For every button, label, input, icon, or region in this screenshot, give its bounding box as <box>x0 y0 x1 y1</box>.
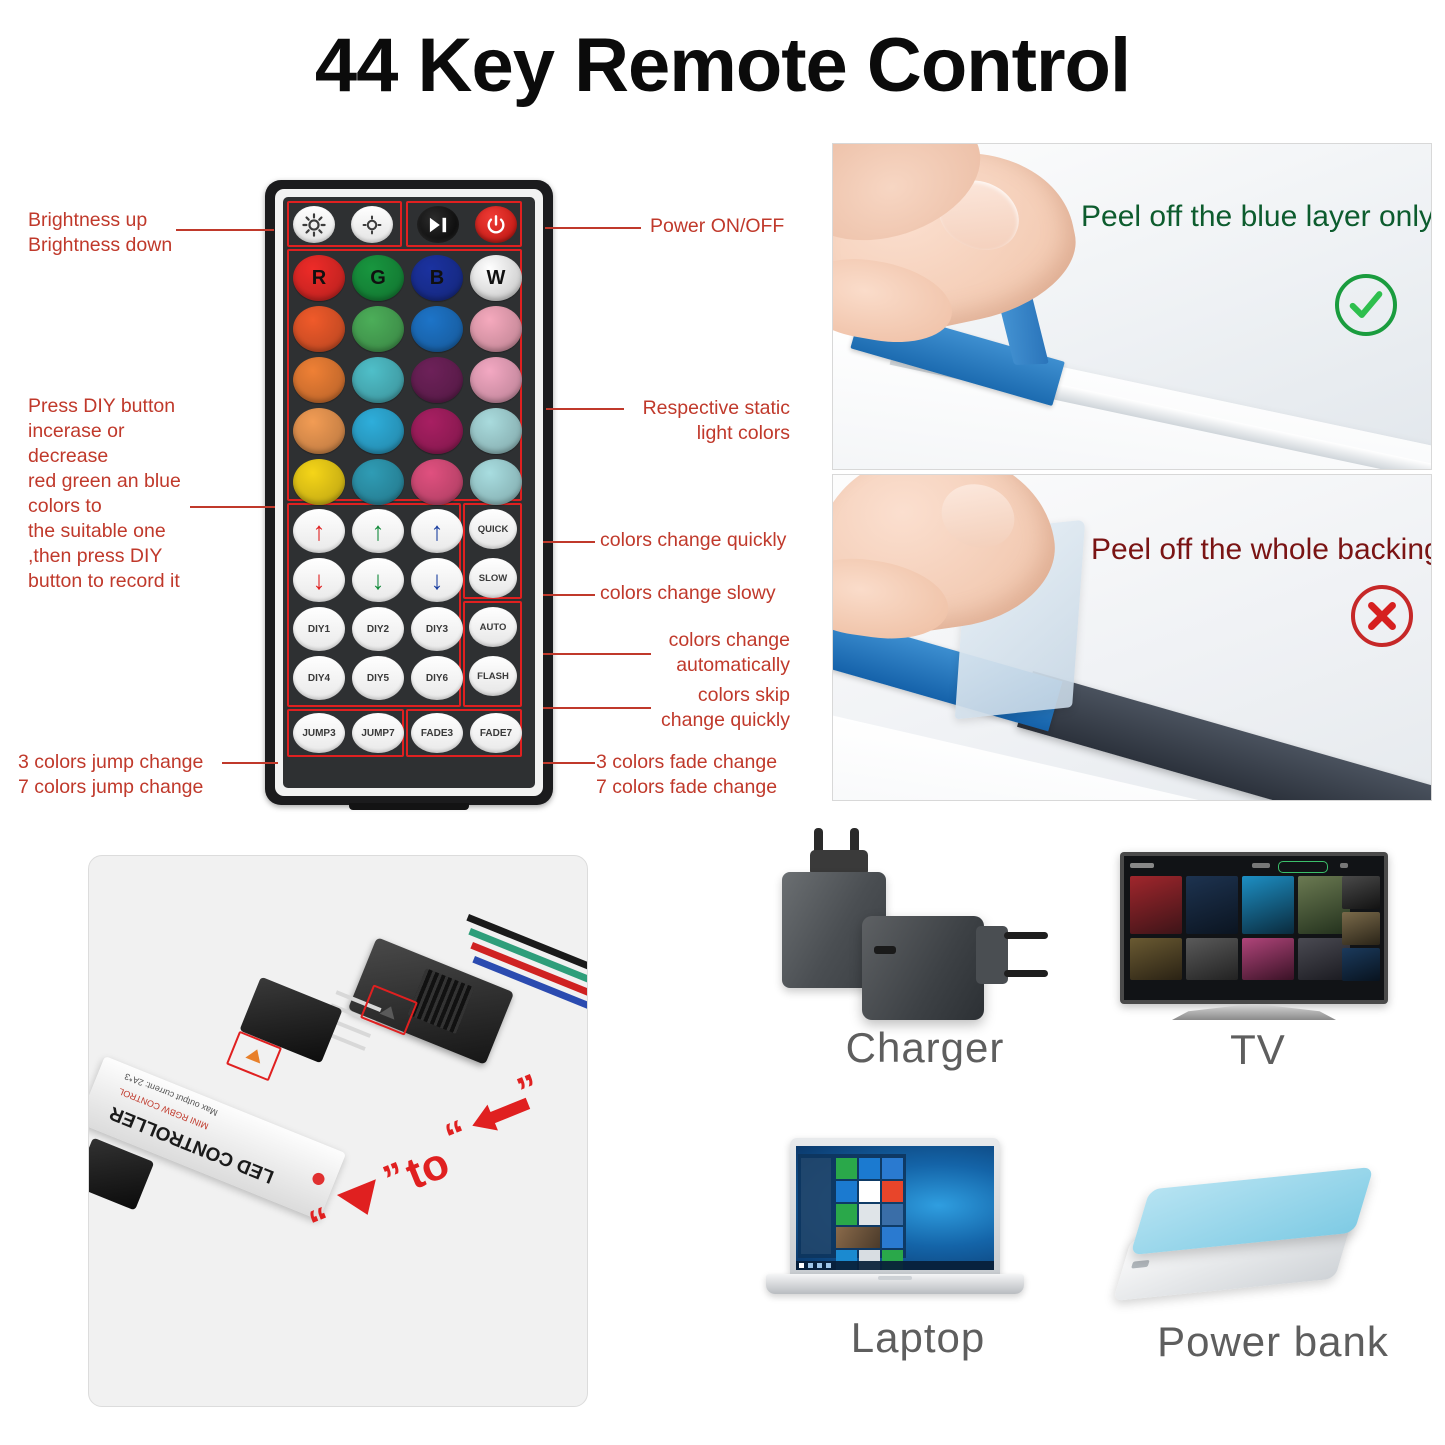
jump-fade-row: JUMP3JUMP7FADE3FADE7 <box>293 713 522 753</box>
controller-power-dot <box>311 1171 327 1187</box>
color-button-r5c4[interactable] <box>470 459 522 505</box>
tv-stand <box>1172 1004 1336 1020</box>
tv-sidebar-posters <box>1342 876 1380 981</box>
color-button-r1c2[interactable]: G <box>352 255 404 301</box>
color-button-r3c4[interactable] <box>470 357 522 403</box>
power-button[interactable] <box>475 206 517 243</box>
color-button-r2c1[interactable] <box>293 306 345 352</box>
mode-button-quick[interactable]: QUICK <box>469 509 517 549</box>
color-button-r5c1[interactable] <box>293 459 345 505</box>
color-button-grid: RGBW <box>293 255 522 505</box>
diy-button-diy5[interactable]: DIY5 <box>352 656 404 700</box>
peel-photo-blue-layer: Peel off the blue layer only <box>832 143 1432 470</box>
remote-face: RGBW ↑↑↑↓↓↓ DIY1DIY2DIY3DIY4DIY5DIY6 QUI… <box>283 197 535 788</box>
color-button-r2c2[interactable] <box>352 306 404 352</box>
tv-poster-row-2 <box>1130 938 1350 980</box>
overlay-quote-open-1: “ <box>303 1199 338 1248</box>
arrow-button-blue-up[interactable]: ↑ <box>411 509 463 553</box>
annotation-diy: Press DIY button incerase or decrease re… <box>28 394 243 594</box>
arrow-button-red-up[interactable]: ↑ <box>293 509 345 553</box>
color-button-r4c1[interactable] <box>293 408 345 454</box>
color-button-r3c3[interactable] <box>411 357 463 403</box>
charger-front-prongs <box>976 926 1046 990</box>
charger-front-body <box>862 916 984 1020</box>
annotation-fade: 3 colors fade change 7 colors fade chang… <box>596 750 846 800</box>
device-power-bank: Power bank <box>1108 1136 1438 1386</box>
brightness-up-button[interactable] <box>293 206 335 243</box>
arrow-down-icon: ↓ <box>313 567 326 593</box>
laptop-label: Laptop <box>758 1314 1078 1362</box>
infographic-root: 44 Key Remote Control <box>0 0 1445 1445</box>
controller-photo-panel: Max output current: 2A*3 MINI RGBW CONTR… <box>88 855 588 1407</box>
color-button-label-blue: B <box>430 267 444 290</box>
device-tv: TV <box>1098 844 1418 1084</box>
arrow-button-red-down[interactable]: ↓ <box>293 558 345 602</box>
color-button-r2c3[interactable] <box>411 306 463 352</box>
color-button-r4c2[interactable] <box>352 408 404 454</box>
leader-line-quick <box>543 541 595 543</box>
cross-icon <box>1364 598 1400 634</box>
color-button-r1c4[interactable]: W <box>470 255 522 301</box>
color-button-r5c2[interactable] <box>352 459 404 505</box>
windows-taskbar <box>796 1261 994 1270</box>
tv-label: TV <box>1098 1026 1418 1074</box>
pattern-button-jump7[interactable]: JUMP7 <box>352 713 404 753</box>
laptop-trackpad-notch <box>878 1276 912 1280</box>
arrow-up-icon: ↑ <box>372 518 385 544</box>
pattern-button-fade3[interactable]: FADE3 <box>411 713 463 753</box>
mode-button-slow[interactable]: SLOW <box>469 558 517 598</box>
page-title: 44 Key Remote Control <box>0 22 1445 109</box>
arrow-up-icon: ↑ <box>313 518 326 544</box>
leader-line-jump <box>222 762 278 764</box>
brightness-down-button[interactable] <box>351 206 393 243</box>
remote-control-body: RGBW ↑↑↑↓↓↓ DIY1DIY2DIY3DIY4DIY5DIY6 QUI… <box>265 180 553 805</box>
diy-button-diy2[interactable]: DIY2 <box>352 607 404 651</box>
device-laptop: Laptop <box>758 1126 1078 1376</box>
arrow-button-green-up[interactable]: ↑ <box>352 509 404 553</box>
device-charger: Charger <box>770 828 1080 1078</box>
diy-button-diy1[interactable]: DIY1 <box>293 607 345 651</box>
color-button-label-white: W <box>487 267 506 290</box>
power-icon <box>485 214 507 236</box>
diy-button-diy4[interactable]: DIY4 <box>293 656 345 700</box>
color-button-label-green: G <box>370 267 386 290</box>
arrow-down-icon: ↓ <box>372 567 385 593</box>
annotation-jump: 3 colors jump change 7 colors jump chang… <box>18 750 258 800</box>
charger-label: Charger <box>770 1024 1080 1072</box>
color-button-r5c3[interactable] <box>411 459 463 505</box>
tv-frame <box>1120 852 1388 1004</box>
tv-poster-row-1 <box>1130 876 1350 934</box>
mode-button-flash[interactable]: FLASH <box>469 656 517 696</box>
laptop-screen <box>796 1146 994 1270</box>
color-button-r3c2[interactable] <box>352 357 404 403</box>
overlay-triangle-icon <box>337 1179 387 1223</box>
controller-arrow-mark <box>245 1046 264 1063</box>
tv-topbar <box>1130 861 1378 871</box>
peel-caption-2: Peel off the whole backing <box>1091 533 1432 567</box>
annotation-slow: colors change slowy <box>600 581 860 606</box>
play-pause-icon <box>427 216 449 234</box>
annotation-static-colors: Respective static light colors <box>586 396 790 446</box>
color-button-r4c4[interactable] <box>470 408 522 454</box>
leader-line-diy <box>190 506 275 508</box>
pattern-button-jump3[interactable]: JUMP3 <box>293 713 345 753</box>
arrow-button-blue-down[interactable]: ↓ <box>411 558 463 602</box>
cross-badge <box>1351 585 1413 647</box>
sun-icon <box>301 212 327 238</box>
check-icon <box>1346 285 1386 325</box>
leader-line-auto <box>543 653 651 655</box>
arrow-down-icon: ↓ <box>431 567 444 593</box>
arrow-button-grid: ↑↑↑↓↓↓ <box>293 509 463 602</box>
diy-button-diy6[interactable]: DIY6 <box>411 656 463 700</box>
charger-usb-port <box>874 946 896 954</box>
leader-line-fade <box>543 762 595 764</box>
leader-line-brightness <box>176 229 274 231</box>
arrow-button-green-down[interactable]: ↓ <box>352 558 404 602</box>
color-button-r3c1[interactable] <box>293 357 345 403</box>
windows-start-menu <box>798 1154 906 1258</box>
leader-line-power <box>545 227 641 229</box>
mode-button-column: QUICKSLOWAUTOFLASH <box>469 509 517 696</box>
arrow-up-icon: ↑ <box>431 518 444 544</box>
leader-line-flash <box>543 707 651 709</box>
check-badge <box>1335 274 1397 336</box>
color-button-label-red: R <box>312 267 326 290</box>
annotation-brightness: Brightness up Brightness down <box>28 208 238 258</box>
annotation-quick: colors change quickly <box>600 528 860 553</box>
color-button-r4c3[interactable] <box>411 408 463 454</box>
tv-screen <box>1124 856 1384 1000</box>
diy-button-diy3[interactable]: DIY3 <box>411 607 463 651</box>
color-button-r1c3[interactable]: B <box>411 255 463 301</box>
remote-ir-emitter <box>349 803 469 810</box>
sun-small-icon <box>361 214 383 236</box>
peel-photo-whole-backing: Peel off the whole backing <box>832 474 1432 801</box>
power-bank-label: Power bank <box>1108 1318 1438 1366</box>
remote-top-row <box>293 206 517 243</box>
pattern-button-fade7[interactable]: FADE7 <box>470 713 522 753</box>
color-button-r2c4[interactable] <box>470 306 522 352</box>
mode-button-auto[interactable]: AUTO <box>469 607 517 647</box>
remote-inner-bezel: RGBW ↑↑↑↓↓↓ DIY1DIY2DIY3DIY4DIY5DIY6 QUI… <box>275 189 543 796</box>
charger-back-prongs <box>810 828 872 870</box>
play-pause-button[interactable] <box>417 206 459 243</box>
diy-button-grid: DIY1DIY2DIY3DIY4DIY5DIY6 <box>293 607 463 700</box>
color-button-r1c1[interactable]: R <box>293 255 345 301</box>
leader-line-static-colors <box>546 408 624 410</box>
leader-line-slow <box>543 594 595 596</box>
laptop-lid <box>790 1138 1000 1276</box>
peel-caption-1: Peel off the blue layer only <box>1081 200 1432 234</box>
